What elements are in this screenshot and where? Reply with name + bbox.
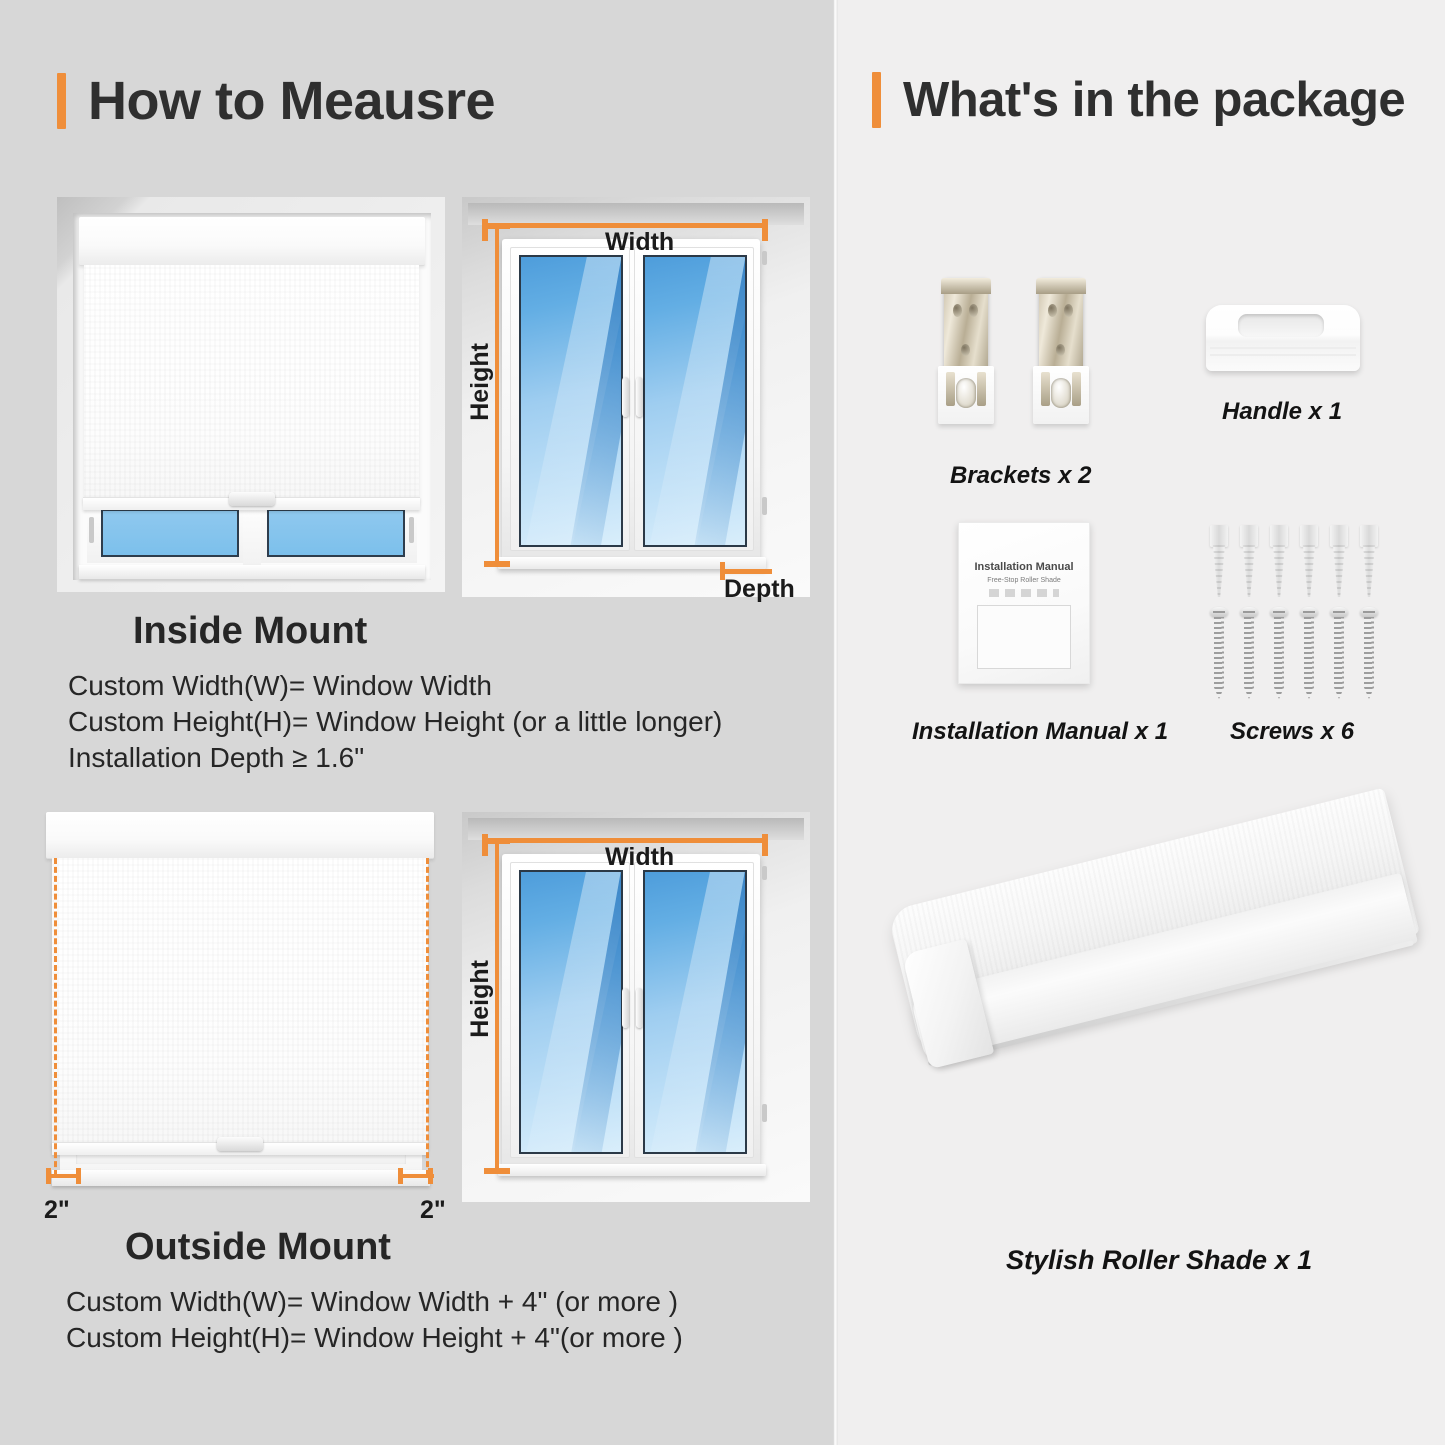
outside-shade-bottom-rail	[52, 1142, 428, 1155]
outside-height-dimension-label: Height	[466, 960, 495, 1038]
accent-bar-icon	[872, 72, 881, 128]
outside-mount-shade-illustration	[40, 812, 440, 1202]
manual-cover-title: Installation Manual	[959, 561, 1089, 573]
outside-width-dimension-label: Width	[605, 843, 674, 872]
inside-mount-line-1: Custom Width(W)= Window Width	[68, 670, 492, 702]
inside-mount-line-3: Installation Depth ≥ 1.6"	[68, 742, 364, 774]
overhang-label-right: 2"	[420, 1196, 446, 1225]
right-panel-heading: What's in the package	[872, 72, 1405, 128]
depth-dimension-line	[720, 569, 772, 574]
left-panel-heading: How to Meausre	[57, 70, 495, 132]
right-heading-text: What's in the package	[903, 72, 1405, 128]
outside-shade-pull-handle	[217, 1137, 263, 1151]
outside-shade-fabric	[52, 858, 428, 1148]
outside-height-dimension-line	[495, 840, 499, 1172]
depth-dimension-label: Depth	[724, 575, 795, 604]
outside-mount-line-2: Custom Height(H)= Window Height + 4"(or …	[66, 1322, 683, 1354]
brackets-label: Brackets x 2	[950, 462, 1091, 490]
manual-cover-subtitle: Free-Stop Roller Shade	[959, 577, 1089, 584]
inside-mount-title: Inside Mount	[133, 610, 367, 653]
outside-shade-valance	[46, 812, 434, 859]
installation-manual-image: Installation Manual Free-Stop Roller Sha…	[958, 522, 1090, 684]
overhang-guide-left	[54, 858, 57, 1176]
screws-image	[1208, 525, 1393, 695]
left-heading-text: How to Meausre	[88, 70, 495, 132]
inside-mount-line-2: Custom Height(H)= Window Height (or a li…	[68, 706, 722, 738]
outside-mount-line-1: Custom Width(W)= Window Width + 4" (or m…	[66, 1286, 678, 1318]
shade-fabric	[84, 265, 419, 503]
overhang-guide-right	[426, 858, 429, 1176]
roller-shade-image	[905, 885, 1435, 1215]
shade-pull-handle	[229, 492, 275, 506]
shade-bottom-rail	[83, 497, 420, 510]
accent-bar-icon	[57, 73, 66, 129]
outside-mount-window-diagram: Width Height	[462, 812, 810, 1202]
handle-image	[1206, 305, 1360, 371]
inside-mount-window-diagram: Width Height Depth	[462, 197, 810, 597]
brackets-image	[938, 278, 1128, 438]
screws-label: Screws x 6	[1230, 718, 1354, 746]
installation-manual-label: Installation Manual x 1	[912, 718, 1168, 746]
height-dimension-line	[495, 225, 499, 565]
inside-mount-shade-illustration	[57, 197, 445, 592]
right-panel-package-contents: What's in the package	[838, 0, 1445, 1445]
outside-mount-title: Outside Mount	[125, 1226, 391, 1269]
width-dimension-label: Width	[605, 228, 674, 257]
left-panel-how-to-measure: How to Meausre	[0, 0, 833, 1445]
overhang-label-left: 2"	[44, 1196, 70, 1225]
shade-valance	[79, 217, 425, 266]
handle-label: Handle x 1	[1222, 398, 1342, 426]
infographic-page: How to Meausre	[0, 0, 1445, 1445]
roller-shade-label: Stylish Roller Shade x 1	[1006, 1245, 1312, 1276]
height-dimension-label: Height	[466, 343, 495, 421]
